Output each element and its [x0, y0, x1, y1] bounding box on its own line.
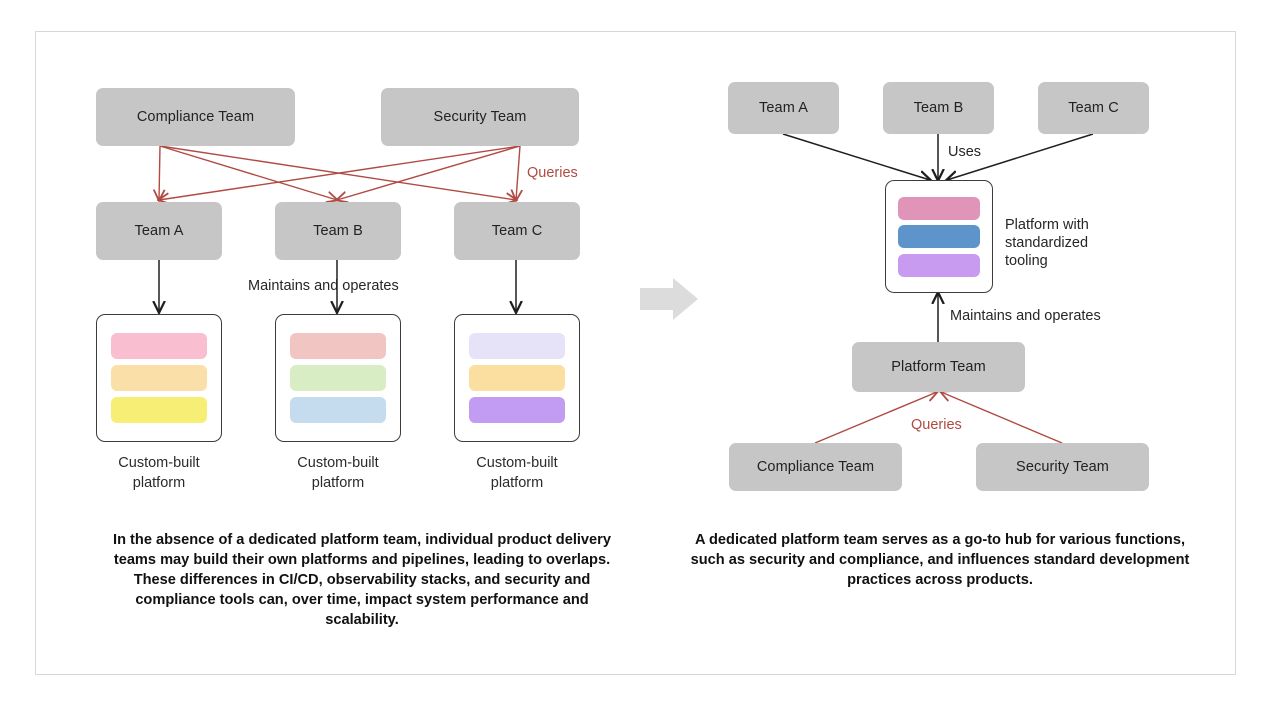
left-platform-3-caption: Custom-built platform	[444, 453, 590, 493]
right-platform-side-label-line2: standardized	[1005, 234, 1125, 252]
right-maintains-label: Maintains and operates	[950, 308, 1101, 324]
left-platform-3-bar-1	[469, 333, 565, 359]
right-compliance-team-box[interactable]: Compliance Team	[729, 443, 902, 491]
right-platform-side-label-line1: Platform with	[1005, 216, 1125, 234]
left-panel-caption: In the absence of a dedicated platform t…	[107, 530, 617, 630]
diagram-canvas: Compliance Team Security Team Queries Te…	[0, 0, 1280, 720]
right-team-b-box[interactable]: Team B	[883, 82, 994, 134]
left-platform-1-bar-3	[111, 397, 207, 423]
left-platform-box-1[interactable]	[96, 314, 222, 442]
left-platform-1-caption-line1: Custom-built	[86, 453, 232, 473]
left-team-c-label: Team C	[492, 223, 543, 239]
left-team-c-box[interactable]: Team C	[454, 202, 580, 260]
left-platform-3-caption-line1: Custom-built	[444, 453, 590, 473]
left-compliance-team-label: Compliance Team	[137, 109, 254, 125]
right-uses-label: Uses	[948, 144, 981, 160]
right-platform-bar-1	[898, 197, 980, 220]
left-platform-2-caption-line1: Custom-built	[265, 453, 411, 473]
right-panel-caption: A dedicated platform team serves as a go…	[690, 530, 1190, 590]
left-platform-2-bar-3	[290, 397, 386, 423]
left-maintains-label: Maintains and operates	[248, 278, 399, 294]
right-team-a-label: Team A	[759, 100, 808, 116]
left-platform-1-caption-line2: platform	[86, 473, 232, 493]
left-platform-2-caption-line2: platform	[265, 473, 411, 493]
right-team-b-label: Team B	[914, 100, 964, 116]
right-platform-side-label: Platform with standardized tooling	[1005, 216, 1125, 270]
left-platform-box-2[interactable]	[275, 314, 401, 442]
left-platform-box-3[interactable]	[454, 314, 580, 442]
left-platform-2-caption: Custom-built platform	[265, 453, 411, 493]
left-compliance-team-box[interactable]: Compliance Team	[96, 88, 295, 146]
right-compliance-team-label: Compliance Team	[757, 459, 874, 475]
right-platform-team-box[interactable]: Platform Team	[852, 342, 1025, 392]
right-security-team-label: Security Team	[1016, 459, 1109, 475]
left-platform-3-bar-3	[469, 397, 565, 423]
left-platform-1-caption: Custom-built platform	[86, 453, 232, 493]
left-security-team-box[interactable]: Security Team	[381, 88, 579, 146]
right-platform-bar-2	[898, 225, 980, 248]
right-team-a-box[interactable]: Team A	[728, 82, 839, 134]
left-team-a-box[interactable]: Team A	[96, 202, 222, 260]
left-platform-2-bar-2	[290, 365, 386, 391]
right-security-team-box[interactable]: Security Team	[976, 443, 1149, 491]
right-platform-bar-3	[898, 254, 980, 277]
right-team-c-label: Team C	[1068, 100, 1119, 116]
right-platform-side-label-line3: tooling	[1005, 252, 1125, 270]
right-platform-team-label: Platform Team	[891, 359, 986, 375]
left-team-a-label: Team A	[135, 223, 184, 239]
left-platform-2-bar-1	[290, 333, 386, 359]
right-queries-label: Queries	[911, 417, 962, 433]
left-queries-label: Queries	[527, 165, 578, 181]
right-team-c-box[interactable]: Team C	[1038, 82, 1149, 134]
left-platform-3-bar-2	[469, 365, 565, 391]
left-platform-1-bar-2	[111, 365, 207, 391]
left-platform-1-bar-1	[111, 333, 207, 359]
left-security-team-label: Security Team	[434, 109, 527, 125]
left-platform-3-caption-line2: platform	[444, 473, 590, 493]
left-team-b-box[interactable]: Team B	[275, 202, 401, 260]
left-team-b-label: Team B	[313, 223, 363, 239]
right-platform-box[interactable]	[885, 180, 993, 293]
